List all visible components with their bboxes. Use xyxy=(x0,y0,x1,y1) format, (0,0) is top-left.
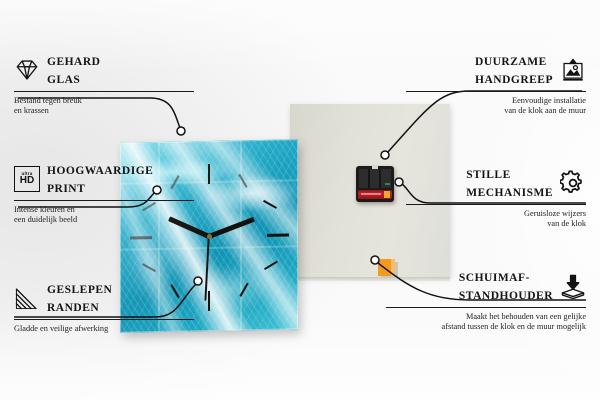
bevelled-edge-icon xyxy=(14,285,40,311)
feature-header: GESLEPEN RANDEN xyxy=(14,280,194,316)
feature-title: SCHUIMAF- STANDHOUDER xyxy=(459,268,553,304)
feature-desc-line2: afstand tussen de klok en de muur mogeli… xyxy=(442,322,586,331)
feature-title: GESLEPEN RANDEN xyxy=(47,280,112,316)
feature-header: SCHUIMAF- STANDHOUDER xyxy=(386,268,586,304)
ultra-hd-icon: ultra HD xyxy=(14,166,40,192)
feature-title-line2: STANDHOUDER xyxy=(459,290,553,302)
feature-desc-line1: Gladde en veilige afwerking xyxy=(14,324,108,333)
feature-header: DUURZAME HANDGREEP xyxy=(406,52,586,88)
feature-description: Bestand tegen breuk en krassen xyxy=(14,96,194,117)
feature-rule xyxy=(386,307,586,308)
feature-title-line2: MECHANISME xyxy=(466,187,553,199)
feature-header: STILLE MECHANISME xyxy=(406,165,586,201)
diamond-icon xyxy=(14,57,40,83)
spacer-arrow-icon xyxy=(560,273,586,299)
feature-header: ultra HD HOOGWAARDIGE PRINT xyxy=(14,161,194,197)
feature-header: GEHARD GLAS xyxy=(14,52,194,88)
feature-desc-line2: een duidelijk beeld xyxy=(14,215,77,224)
feature-title-line1: GESLEPEN xyxy=(47,284,112,296)
feature-title-line1: DUURZAME xyxy=(475,56,547,68)
feature-stille-mechanisme: STILLE MECHANISME Geruisloze wijzers van… xyxy=(406,165,586,230)
feature-rule xyxy=(406,204,586,205)
feature-desc-line1: Eenvoudige installatie xyxy=(512,96,586,105)
connector-dot-5 xyxy=(395,178,403,186)
infographic-canvas: GEHARD GLAS Bestand tegen breuk en krass… xyxy=(0,0,600,400)
feature-title-line2: PRINT xyxy=(47,183,85,195)
feature-rule xyxy=(14,319,194,320)
ultra-hd-badge-bottom: HD xyxy=(20,176,34,186)
connector-dot-3 xyxy=(194,277,202,285)
feature-title-line2: HANDGREEP xyxy=(475,74,553,86)
connector-dot-4 xyxy=(381,151,389,159)
feature-title-line2: RANDEN xyxy=(47,302,99,314)
feature-title: STILLE MECHANISME xyxy=(466,165,553,201)
feature-description: Intense kleuren en een duidelijk beeld xyxy=(14,205,194,226)
feature-title-line1: GEHARD xyxy=(47,56,100,68)
connector-dot-1 xyxy=(177,127,185,135)
feature-title: HOOGWAARDIGE PRINT xyxy=(47,161,153,197)
feature-schuimafstandhouder: SCHUIMAF- STANDHOUDER Maakt het behouden… xyxy=(386,268,586,333)
feature-desc-line1: Bestand tegen breuk xyxy=(14,96,82,105)
feature-desc-line2: en krassen xyxy=(14,106,49,115)
feature-hoogwaardige-print: ultra HD HOOGWAARDIGE PRINT Intense kleu… xyxy=(14,161,194,226)
feature-rule xyxy=(14,200,194,201)
picture-hanger-icon xyxy=(560,57,586,83)
feature-geslepen-randen: GESLEPEN RANDEN Gladde en veilige afwerk… xyxy=(14,280,194,334)
feature-title-line1: STILLE xyxy=(466,169,511,181)
feature-description: Eenvoudige installatie van de klok aan d… xyxy=(406,96,586,117)
feature-title: GEHARD GLAS xyxy=(47,52,100,88)
feature-title: DUURZAME HANDGREEP xyxy=(475,52,553,88)
feature-title-line1: HOOGWAARDIGE xyxy=(47,165,153,177)
feature-title-line2: GLAS xyxy=(47,74,80,86)
feature-gehard-glas: GEHARD GLAS Bestand tegen breuk en krass… xyxy=(14,52,194,117)
feature-rule xyxy=(406,91,586,92)
feature-description: Maakt het behouden van een gelijke afsta… xyxy=(386,312,586,333)
gear-icon xyxy=(560,170,586,196)
feature-title-line1: SCHUIMAF- xyxy=(459,272,530,284)
ultra-hd-badge: ultra HD xyxy=(14,166,40,192)
feature-desc-line1: Intense kleuren en xyxy=(14,205,75,214)
feature-description: Gladde en veilige afwerking xyxy=(14,324,194,334)
feature-desc-line2: van de klok aan de muur xyxy=(504,106,586,115)
feature-duurzame-handgreep: DUURZAME HANDGREEP Eenvoudige installati… xyxy=(406,52,586,117)
feature-desc-line2: van de klok xyxy=(547,219,586,228)
feature-desc-line1: Geruisloze wijzers xyxy=(524,209,586,218)
feature-description: Geruisloze wijzers van de klok xyxy=(406,209,586,230)
feature-rule xyxy=(14,91,194,92)
feature-desc-line1: Maakt het behouden van een gelijke xyxy=(466,312,586,321)
connector-dot-6 xyxy=(371,256,379,264)
